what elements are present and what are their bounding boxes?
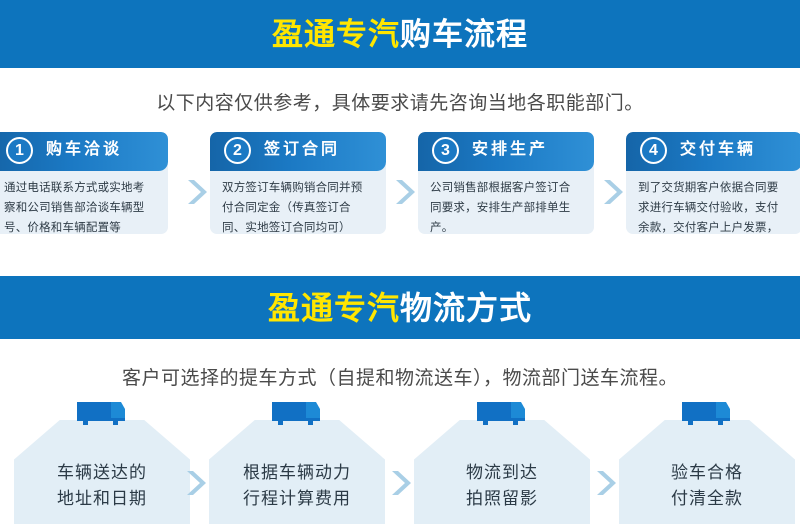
chevron-right-icon-2 [393,177,415,207]
section-title-1: 购车流程 [400,17,528,52]
step-body-3: 公司销售部根据客户签订合同要求，安排生产部排单生产。 [418,162,594,234]
step-body-1: 通过电话联系方式或实地考察和公司销售部洽谈车辆型号、价格和车辆配置等 [0,162,168,234]
logistics-cards-row: 车辆送达的 地址和日期 根据车辆动力 行程计算费用 [0,398,800,524]
step-card-2-header: 2 签订合同 [210,132,386,162]
purchase-process-banner: 盈通专汽购车流程 [0,0,800,68]
section-title-2: 物流方式 [400,290,532,326]
step-body-2: 双方签订车辆购销合同并预付合同定金（传真签订合同、实地签订合同均可） [210,162,386,234]
chevron-right-icon-3 [601,177,623,207]
logistics-banner: 盈通专汽物流方式 [0,276,800,339]
logistics-card-1-line1: 车辆送达的 [14,460,190,486]
logistics-card-2-text: 根据车辆动力 行程计算费用 [209,460,385,513]
step-number-badge-4: 4 [640,137,667,164]
logistics-card-4-line2: 付清全款 [619,486,795,512]
truck-icon-2 [270,400,324,428]
chevron-right-icon-1 [185,177,207,207]
step-title-3: 安排生产 [472,135,548,159]
chevron-right-icon-6 [594,468,616,498]
chevron-right-icon-5 [389,468,411,498]
chevron-right-icon-4 [184,468,206,498]
step-body-4: 到了交货期客户依据合同要求进行车辆交付验收，支付余款，交付客户上户发票，车辆合格… [626,162,800,234]
step-title-4: 交付车辆 [680,135,756,159]
brand-name-1: 盈通专汽 [272,17,400,52]
logistics-title: 盈通专汽物流方式 [268,292,532,324]
step-card-4[interactable]: 4 交付车辆 到了交货期客户依据合同要求进行车辆交付验收，支付余款，交付客户上户… [626,132,800,234]
brand-name-2: 盈通专汽 [268,290,400,326]
step-card-4-header: 4 交付车辆 [626,132,800,162]
logistics-card-4[interactable]: 验车合格 付清全款 [619,420,795,524]
logistics-card-1-text: 车辆送达的 地址和日期 [14,460,190,513]
step-number-badge-3: 3 [432,137,459,164]
truck-icon-1 [75,400,129,428]
logistics-card-1[interactable]: 车辆送达的 地址和日期 [14,420,190,524]
step-card-2[interactable]: 2 签订合同 双方签订车辆购销合同并预付合同定金（传真签订合同、实地签订合同均可… [210,132,386,234]
logistics-card-1-line2: 地址和日期 [14,486,190,512]
logistics-card-2-line2: 行程计算费用 [209,486,385,512]
truck-icon-4 [680,400,734,428]
step-card-3[interactable]: 3 安排生产 公司销售部根据客户签订合同要求，安排生产部排单生产。 [418,132,594,234]
logistics-card-3-line1: 物流到达 [414,460,590,486]
step-number-badge-1: 1 [6,137,33,164]
step-number-badge-2: 2 [224,137,251,164]
step-card-1-header: 1 购车洽谈 [0,132,168,162]
logistics-card-3-text: 物流到达 拍照留影 [414,460,590,513]
logistics-card-2[interactable]: 根据车辆动力 行程计算费用 [209,420,385,524]
purchase-process-title: 盈通专汽购车流程 [272,19,528,50]
truck-icon-3 [475,400,529,428]
step-title-1: 购车洽谈 [46,135,122,159]
logistics-card-4-line1: 验车合格 [619,460,795,486]
step-card-3-header: 3 安排生产 [418,132,594,162]
step-title-2: 签订合同 [264,135,340,159]
purchase-process-subtitle: 以下内容仅供参考，具体要求请先咨询当地各职能部门。 [0,68,800,115]
purchase-steps-row: 1 购车洽谈 通过电话联系方式或实地考察和公司销售部洽谈车辆型号、价格和车辆配置… [0,132,800,244]
logistics-card-3-line2: 拍照留影 [414,486,590,512]
logistics-card-4-text: 验车合格 付清全款 [619,460,795,513]
logistics-card-2-line1: 根据车辆动力 [209,460,385,486]
logistics-subtitle: 客户可选择的提车方式（自提和物流送车），物流部门送车流程。 [0,339,800,390]
logistics-card-3[interactable]: 物流到达 拍照留影 [414,420,590,524]
step-card-1[interactable]: 1 购车洽谈 通过电话联系方式或实地考察和公司销售部洽谈车辆型号、价格和车辆配置… [0,132,168,234]
